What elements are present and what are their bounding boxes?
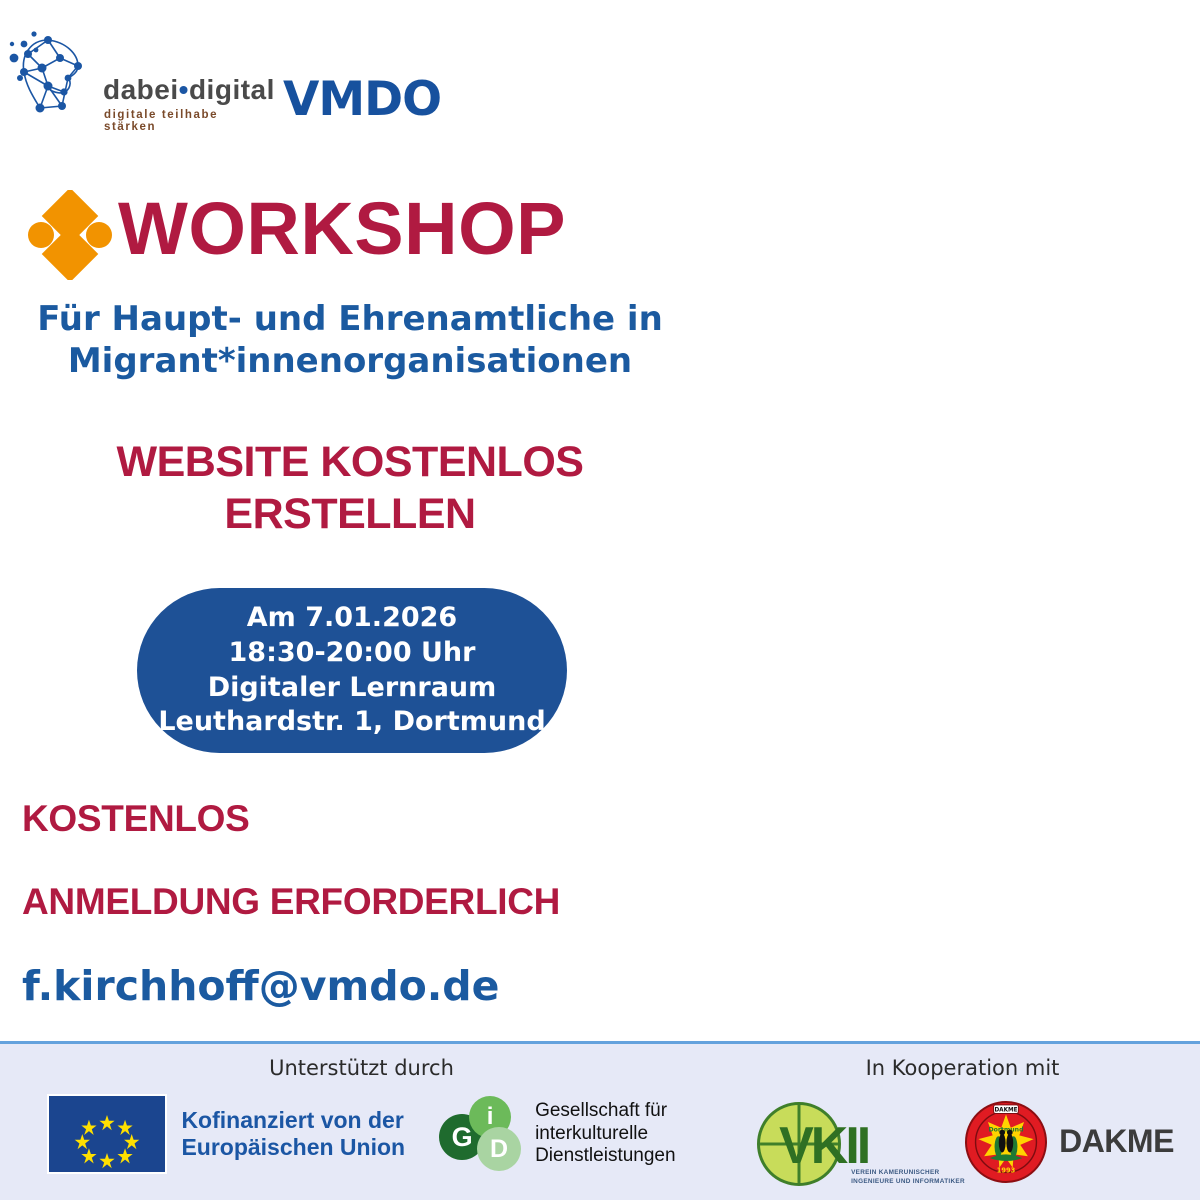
eu-funding-line-1: Kofinanziert von der bbox=[181, 1107, 405, 1134]
poster-canvas: dabei•digital digitale teilhabe stärken … bbox=[0, 0, 1200, 1200]
eu-flag-icon bbox=[47, 1094, 167, 1174]
eu-funding-text: Kofinanziert von der Europäischen Union bbox=[181, 1107, 405, 1161]
gid-line-1: Gesellschaft für bbox=[535, 1100, 675, 1123]
dakme-seal-icon: DAKME Dortmund bbox=[965, 1101, 1047, 1183]
gid-text: Gesellschaft für interkulturelle Dienstl… bbox=[535, 1100, 675, 1168]
footer-partners: In Kooperation mit VKII VEREIN KAMERUNIS… bbox=[725, 1044, 1200, 1200]
network-head-icon bbox=[8, 28, 100, 120]
vkii-subtitle-line-1: VEREIN KAMERUNISCHER bbox=[851, 1169, 939, 1176]
page-title: WORKSHOP bbox=[118, 192, 566, 266]
cta-email[interactable]: f.kirchhoff@vmdo.de bbox=[22, 966, 702, 1007]
vmdo-logo: VMDO bbox=[283, 76, 441, 123]
event-time: 18:30-20:00 Uhr bbox=[229, 636, 476, 671]
cta-price: KOSTENLOS bbox=[22, 800, 702, 837]
footer-supporters: Unterstützt durch bbox=[0, 1044, 723, 1200]
svg-text:DAKME: DAKME bbox=[995, 1107, 1018, 1113]
vkii-subtitle-line-2: INGENIEURE UND INFORMATIKER bbox=[851, 1178, 965, 1185]
diamond-cluster-icon bbox=[28, 190, 114, 280]
event-address: Leuthardstr. 1, Dortmund bbox=[158, 705, 545, 740]
vkii-letters: VKII bbox=[779, 1116, 868, 1176]
gid-circles-icon: G i D bbox=[439, 1096, 525, 1172]
graphic-composition bbox=[690, 0, 1200, 1041]
svg-text:Dortmund: Dortmund bbox=[989, 1126, 1024, 1133]
dabei-tagline: digitale teilhabe stärken bbox=[104, 110, 268, 133]
dabei-dot: • bbox=[179, 74, 189, 105]
gid-line-3: Dienstleistungen bbox=[535, 1145, 675, 1168]
subheadline: Für Haupt- und Ehrenamtliche in Migrant*… bbox=[0, 298, 700, 382]
workshop-topic-line-2: ERSTELLEN bbox=[0, 488, 700, 540]
workshop-topic-line-1: WEBSITE KOSTENLOS bbox=[0, 436, 700, 488]
dabei-digital-logo: dabei•digital digitale teilhabe stärken bbox=[8, 26, 268, 136]
dabei-word-1: dabei bbox=[103, 74, 179, 105]
event-date: Am 7.01.2026 bbox=[247, 601, 457, 636]
eu-funding-line-2: Europäischen Union bbox=[181, 1134, 405, 1161]
gid-line-2: interkulturelle bbox=[535, 1123, 675, 1146]
subheadline-line-2: Migrant*innenorganisationen bbox=[0, 340, 700, 382]
footer-left-logos: Kofinanziert von der Europäischen Union … bbox=[0, 1094, 723, 1174]
dakme-logo: DAKME Dortmund bbox=[965, 1101, 1174, 1183]
event-venue: Digitaler Lernraum bbox=[208, 671, 497, 706]
svg-text:1993: 1993 bbox=[997, 1166, 1016, 1174]
dakme-wordmark: DAKME bbox=[1059, 1123, 1174, 1160]
dabei-word-2: digital bbox=[189, 74, 275, 105]
footer-right-logos: VKII VEREIN KAMERUNISCHER INGENIEURE UND… bbox=[725, 1094, 1200, 1189]
cta-registration: ANMELDUNG ERFORDERLICH bbox=[22, 883, 702, 920]
gid-logo: G i D Gesellschaft für interkulturelle D… bbox=[439, 1096, 675, 1172]
dabei-wordmark: dabei•digital bbox=[103, 76, 275, 104]
gid-circle-d: D bbox=[477, 1127, 521, 1171]
event-details-pill: Am 7.01.2026 18:30-20:00 Uhr Digitaler L… bbox=[137, 588, 567, 753]
eu-funding-logo: Kofinanziert von der Europäischen Union bbox=[47, 1094, 405, 1174]
footer-right-title: In Kooperation mit bbox=[725, 1056, 1200, 1080]
subheadline-line-1: Für Haupt- und Ehrenamtliche in bbox=[0, 298, 700, 340]
vkii-subtitle: VEREIN KAMERUNISCHER INGENIEURE UND INFO… bbox=[851, 1168, 971, 1187]
vkii-logo: VKII VEREIN KAMERUNISCHER INGENIEURE UND… bbox=[751, 1094, 931, 1189]
cta-block: KOSTENLOS ANMELDUNG ERFORDERLICH f.kirch… bbox=[22, 800, 702, 1007]
footer-bar: Unterstützt durch bbox=[0, 1041, 1200, 1200]
workshop-topic: WEBSITE KOSTENLOS ERSTELLEN bbox=[0, 436, 700, 541]
logo-row: dabei•digital digitale teilhabe stärken … bbox=[0, 26, 700, 136]
footer-left-title: Unterstützt durch bbox=[0, 1056, 723, 1080]
